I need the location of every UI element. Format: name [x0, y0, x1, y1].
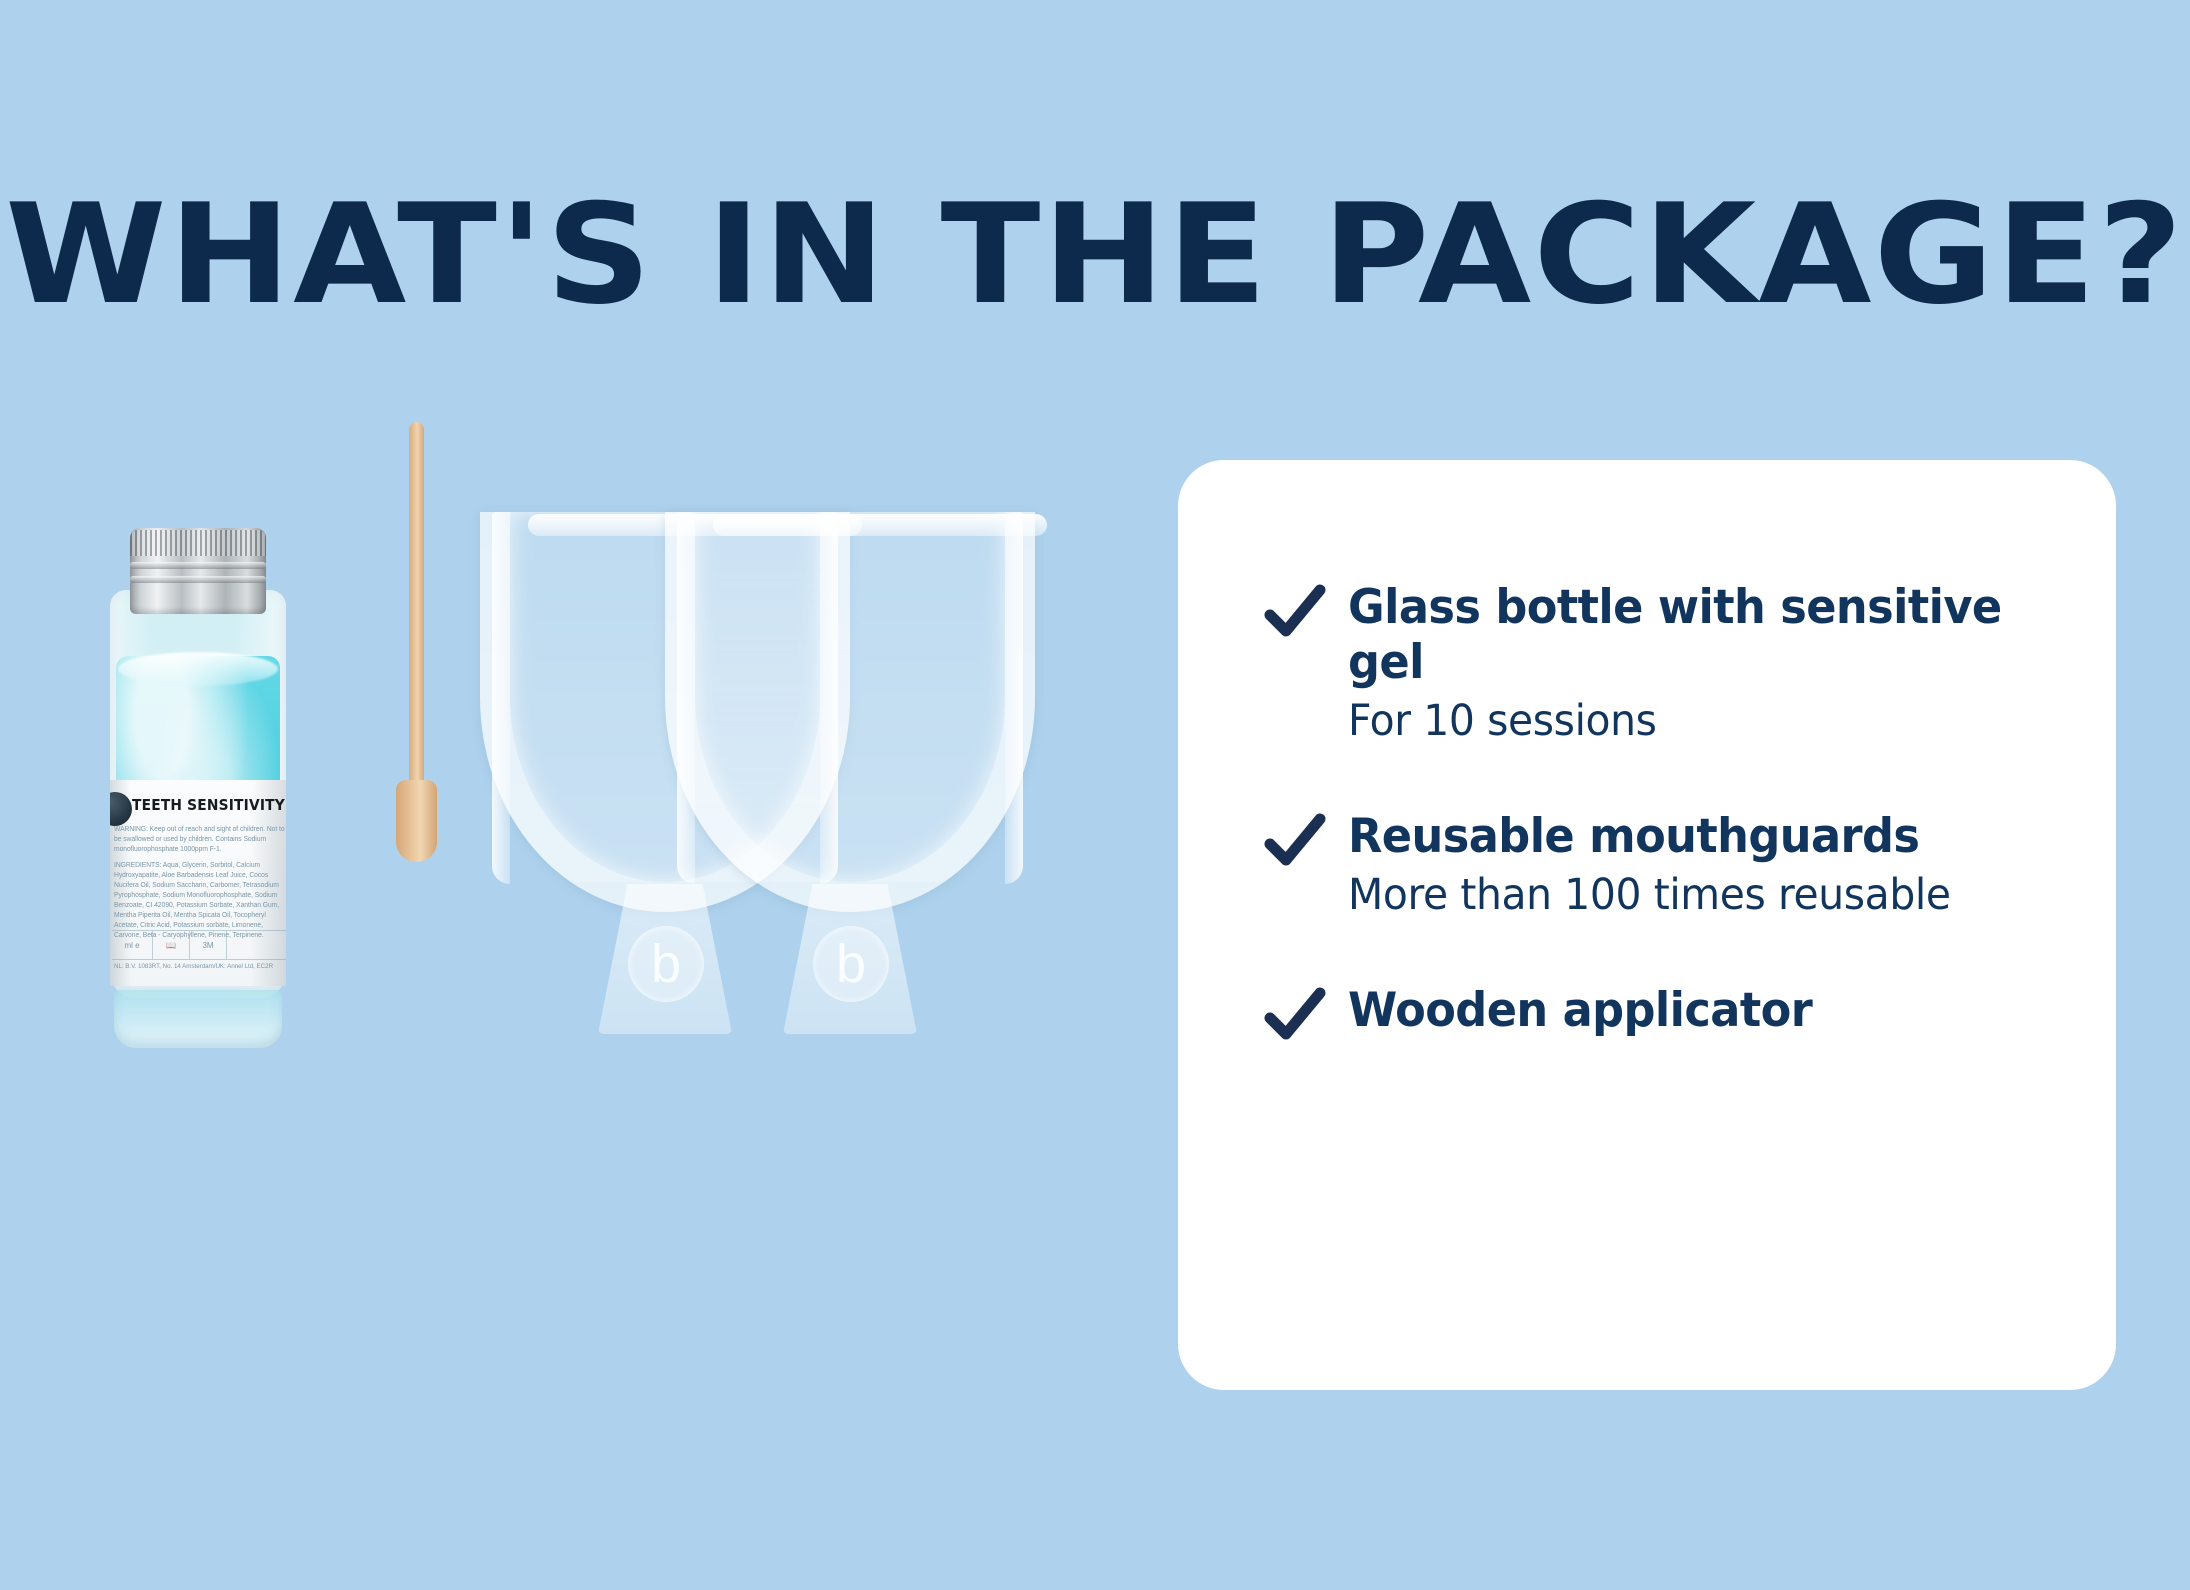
bottle-cap [130, 528, 266, 614]
check-icon [1264, 813, 1326, 869]
page-title: WHAT'S IN THE PACKAGE? [0, 186, 2190, 324]
feature-title: Glass bottle with sensitive gel [1348, 580, 2023, 691]
mouthguard-handle: b [783, 884, 917, 1034]
feature-item: Glass bottle with sensitive gel For 10 s… [1264, 580, 2058, 747]
package-contents-card: Glass bottle with sensitive gel For 10 s… [1178, 460, 2116, 1390]
applicator-shaft [409, 422, 424, 812]
volume-marking: ml e [112, 931, 153, 959]
label-warning-text: WARNING: Keep out of reach and sight of … [114, 824, 286, 854]
feature-subtitle: More than 100 times reusable [1348, 869, 2023, 921]
label-address-text: NL: B.V. 1083RT, No. 14 Amsterdam/UK: An… [114, 962, 286, 971]
label-icon-spacer [227, 931, 286, 959]
gel-surface [118, 652, 278, 686]
feature-title: Reusable mouthguards [1348, 809, 2023, 864]
gel-bottle: TEETH SENSITIVITY WARNING: Keep out of r… [110, 528, 286, 998]
feature-text: Reusable mouthguards More than 100 times… [1348, 809, 2058, 921]
label-heading: TEETH SENSITIVITY [132, 796, 285, 814]
feature-title: Wooden applicator [1348, 983, 2023, 1038]
period-after-opening-icon: 3M [190, 931, 227, 959]
label-ingredients-text: INGREDIENTS: Aqua, Glycerin, Sorbitol, C… [114, 860, 286, 941]
check-icon [1264, 987, 1326, 1043]
mouthguard-front: b [665, 512, 1035, 1042]
feature-text: Glass bottle with sensitive gel For 10 s… [1348, 580, 2058, 747]
label-icon-row: ml e 📖 3M [112, 930, 286, 960]
wooden-applicator [394, 422, 438, 862]
bottle-base [114, 990, 282, 1048]
cap-ridge-upper [130, 562, 266, 569]
brand-logo-icon [110, 792, 132, 826]
check-icon [1264, 584, 1326, 640]
feature-text: Wooden applicator [1348, 983, 2058, 1038]
bottle-label: TEETH SENSITIVITY WARNING: Keep out of r… [110, 780, 286, 986]
product-photo: TEETH SENSITIVITY WARNING: Keep out of r… [60, 400, 1180, 1300]
cap-ridge-lower [130, 576, 266, 583]
feature-subtitle: For 10 sessions [1348, 695, 2023, 747]
leaflet-icon: 📖 [153, 931, 190, 959]
mouthguard-tray [665, 512, 1035, 912]
feature-item: Reusable mouthguards More than 100 times… [1264, 809, 2058, 921]
applicator-paddle [396, 780, 437, 862]
bottle-body: TEETH SENSITIVITY WARNING: Keep out of r… [110, 590, 286, 998]
cap-knurling [130, 530, 266, 556]
feature-item: Wooden applicator [1264, 983, 2058, 1043]
mouthguard-rim [713, 514, 1047, 536]
mouthguard-pair: b b [480, 512, 1120, 1042]
brand-emboss-b-icon: b [813, 926, 889, 1002]
